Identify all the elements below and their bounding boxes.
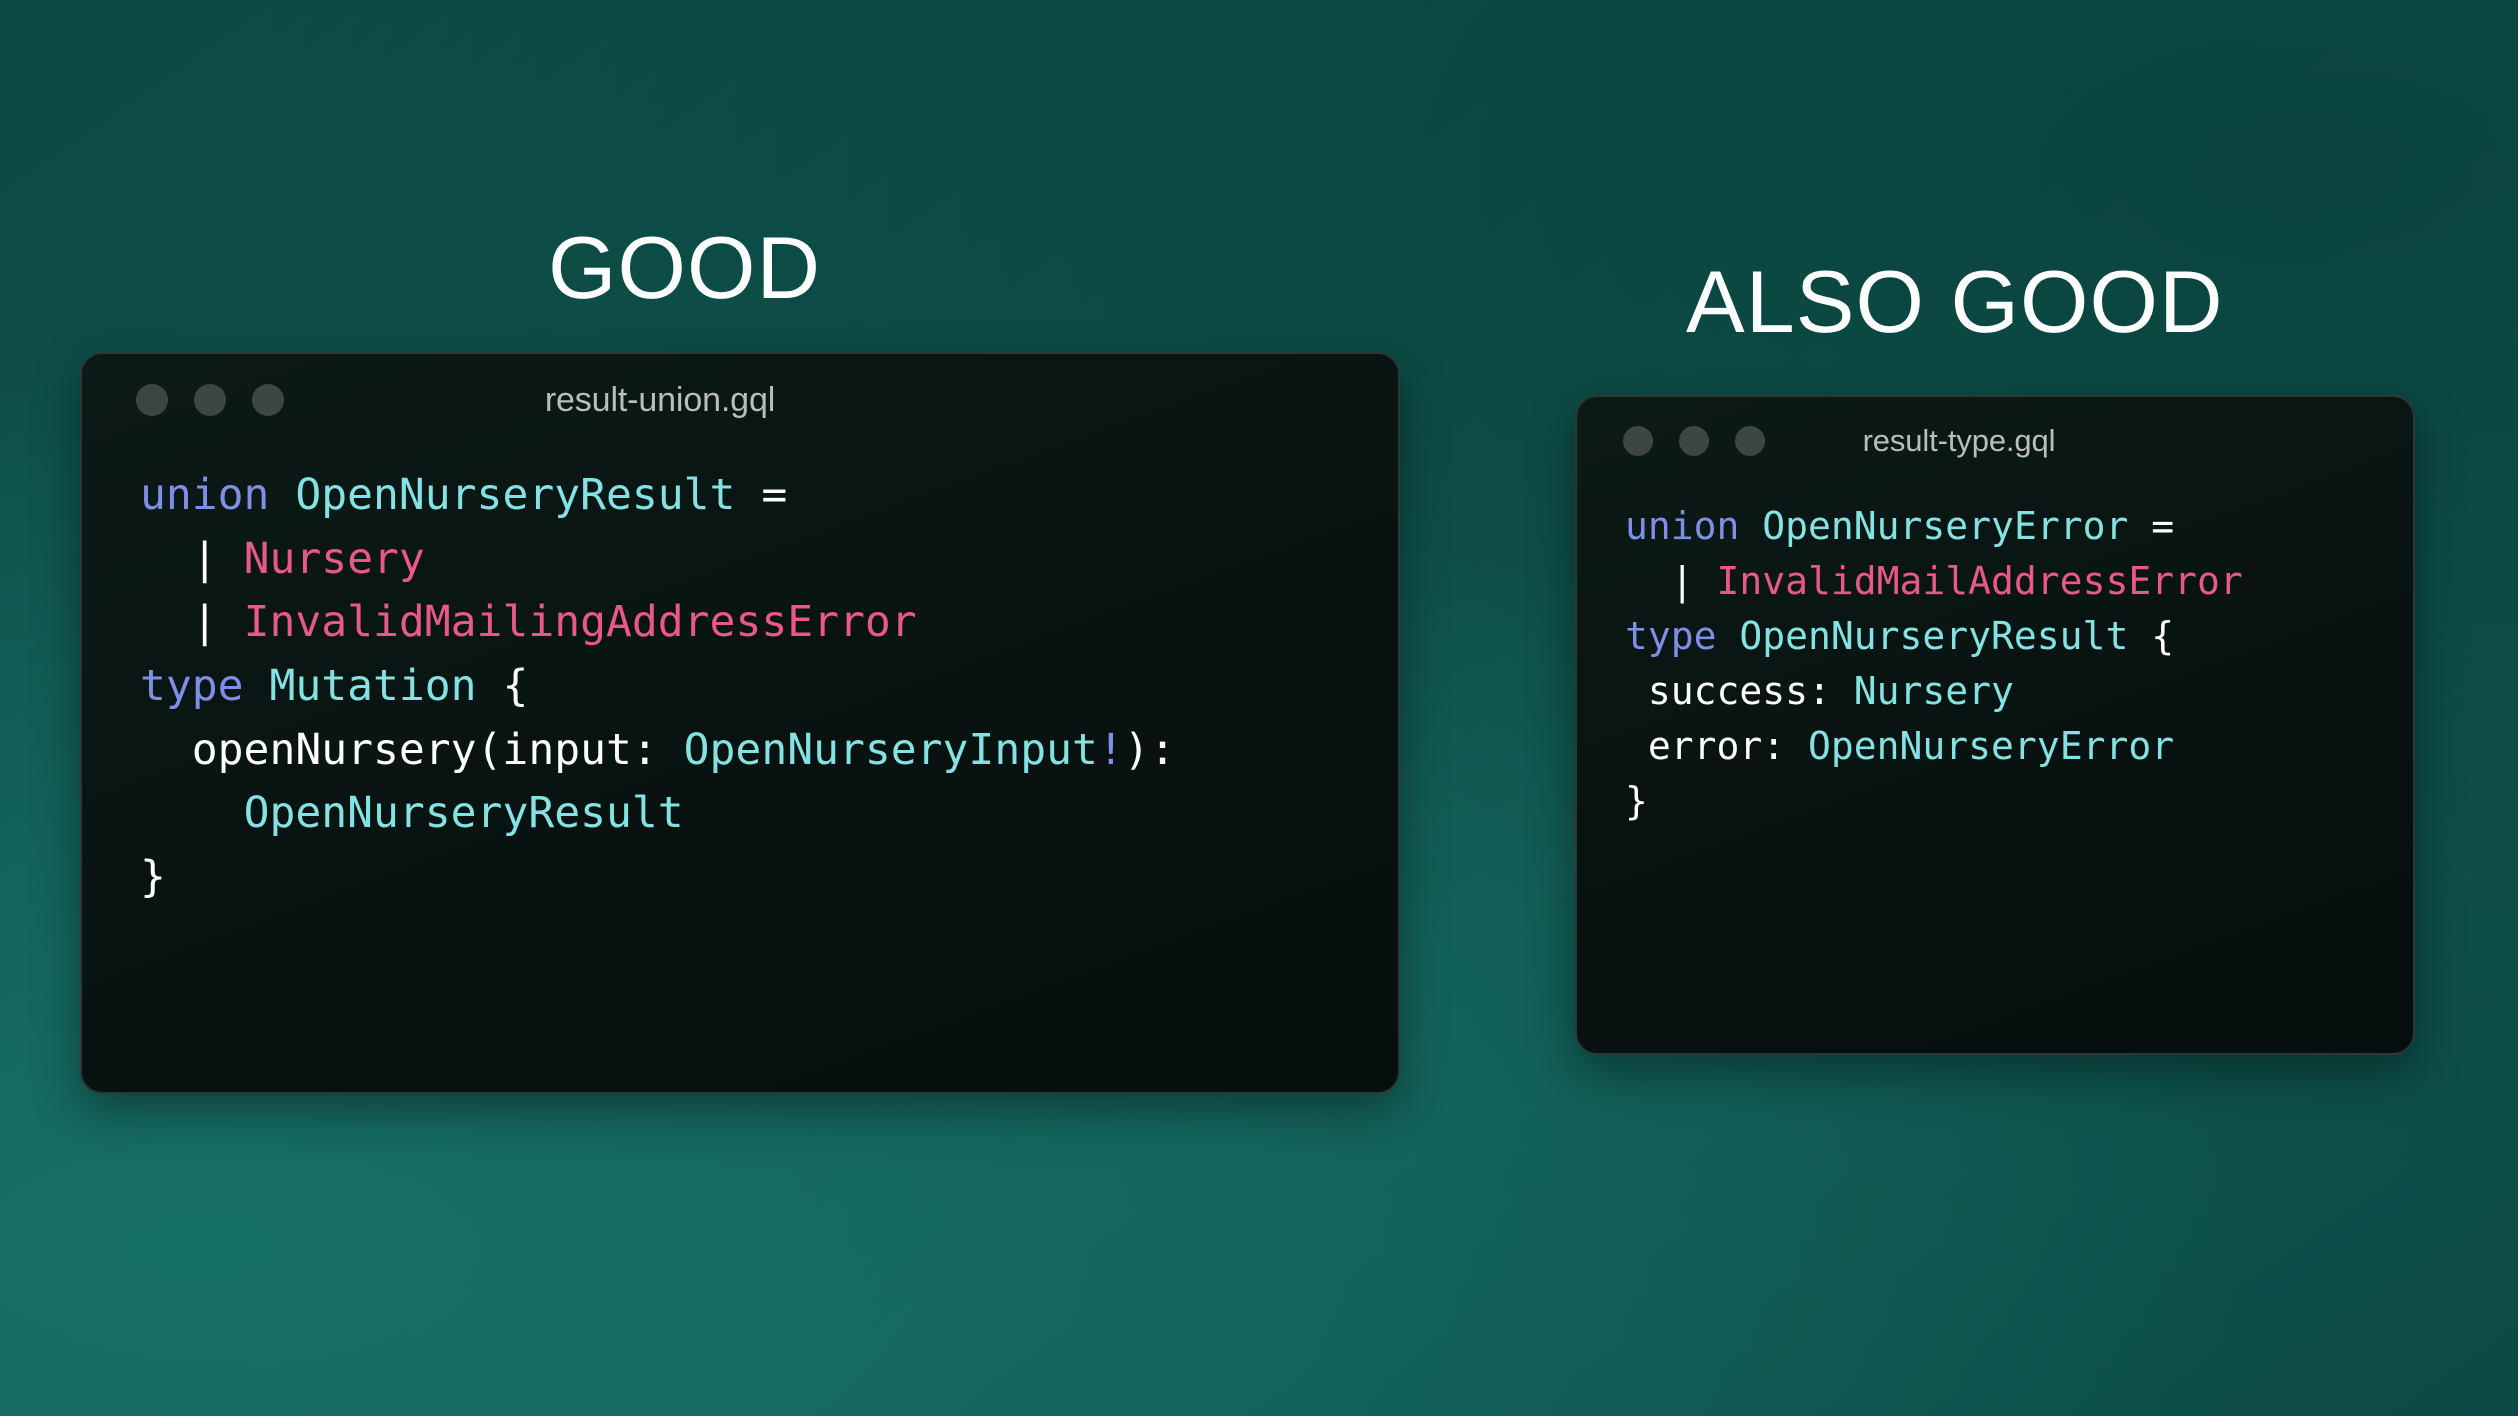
- panel-heading-also-good: ALSO GOOD: [1686, 258, 2224, 346]
- code-line: }: [1625, 774, 2413, 829]
- code-token-type: OpenNurseryResult: [295, 470, 735, 520]
- code-line: }: [140, 846, 1398, 910]
- code-window-also-good: result-type.gql union OpenNurseryError =…: [1575, 395, 2415, 1055]
- panel-heading-good: GOOD: [548, 224, 821, 312]
- window-filename: result-type.gql: [1575, 423, 2377, 459]
- code-token-plain: =: [735, 470, 787, 520]
- code-token-plain: |: [140, 597, 244, 647]
- code-line: type OpenNurseryResult {: [1625, 609, 2413, 664]
- window-titlebar: result-type.gql: [1577, 397, 2413, 485]
- code-line: | InvalidMailingAddressError: [140, 591, 1398, 655]
- code-token-kw: type: [1625, 614, 1739, 658]
- code-token-type: Nursery: [1854, 669, 2014, 713]
- code-token-type: Mutation: [269, 661, 476, 711]
- window-titlebar: result-union.gql: [82, 354, 1398, 446]
- code-token-type: OpenNurseryInput: [684, 725, 1098, 775]
- code-line: union OpenNurseryError =: [1625, 499, 2413, 554]
- code-line: success: Nursery: [1625, 664, 2413, 719]
- code-token-plain: }: [1625, 779, 1648, 823]
- code-line: OpenNurseryResult: [140, 782, 1398, 846]
- code-block-good: union OpenNurseryResult = | Nursery | In…: [140, 464, 1398, 909]
- code-line: | Nursery: [140, 528, 1398, 592]
- code-window-good: result-union.gql union OpenNurseryResult…: [80, 352, 1400, 1094]
- code-line: error: OpenNurseryError: [1625, 719, 2413, 774]
- code-token-plain: |: [1625, 559, 1717, 603]
- code-token-type: OpenNurseryResult: [1739, 614, 2128, 658]
- code-token-plain: {: [477, 661, 529, 711]
- code-token-kw: type: [140, 661, 269, 711]
- code-line: type Mutation {: [140, 655, 1398, 719]
- window-filename: result-union.gql: [80, 381, 1318, 420]
- code-line: | InvalidMailAddressError: [1625, 554, 2413, 609]
- code-token-type: OpenNurseryResult: [244, 788, 684, 838]
- code-token-kw: union: [1625, 504, 1762, 548]
- code-token-plain: error:: [1625, 724, 1808, 768]
- code-token-plain: [140, 788, 244, 838]
- slide-canvas: GOOD ALSO GOOD result-union.gql union Op…: [0, 0, 2518, 1416]
- code-line: union OpenNurseryResult =: [140, 464, 1398, 528]
- code-token-plain: =: [2128, 504, 2174, 548]
- code-token-err: InvalidMailingAddressError: [244, 597, 917, 647]
- code-token-plain: |: [140, 534, 244, 584]
- code-token-plain: }: [140, 852, 166, 902]
- code-token-err: Nursery: [244, 534, 425, 584]
- code-token-type: OpenNurseryError: [1762, 504, 2128, 548]
- code-token-type: OpenNurseryError: [1808, 724, 2174, 768]
- code-line: openNursery(input: OpenNurseryInput!):: [140, 719, 1398, 783]
- code-block-also-good: union OpenNurseryError = | InvalidMailAd…: [1625, 499, 2413, 830]
- code-token-plain: success:: [1625, 669, 1854, 713]
- code-token-bang: !: [1098, 725, 1124, 775]
- code-token-err: InvalidMailAddressError: [1717, 559, 2243, 603]
- code-token-plain: ):: [1124, 725, 1176, 775]
- code-token-plain: {: [2128, 614, 2174, 658]
- code-token-plain: openNursery(input:: [140, 725, 684, 775]
- code-token-kw: union: [140, 470, 295, 520]
